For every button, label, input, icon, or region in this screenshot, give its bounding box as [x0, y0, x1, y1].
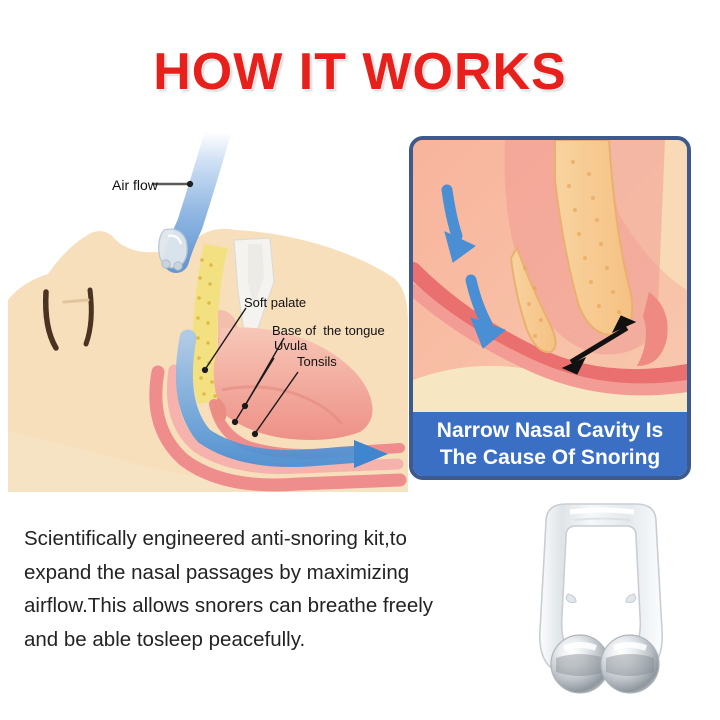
nasal-cavity-cross-section-svg	[413, 140, 687, 416]
clip-right-nub	[626, 594, 636, 603]
inset-caption-box: Narrow Nasal Cavity Is The Cause Of Snor…	[413, 412, 687, 476]
product-photo-nose-clip	[508, 492, 694, 698]
description-line-2: expand the nasal passages by maximizing	[24, 556, 494, 590]
inset-turbinates	[505, 140, 668, 366]
clip-top-highlight	[570, 510, 634, 512]
page-title: HOW IT WORKS	[153, 42, 567, 102]
nose-clip-svg	[508, 492, 694, 698]
magnetic-balls	[551, 635, 659, 693]
title-bar: HOW IT WORKS	[0, 42, 720, 102]
label-air-flow: Air flow	[112, 178, 158, 192]
description-line-1: Scientifically engineered anti-snoring k…	[24, 522, 494, 556]
label-base-of-tongue: Base of the tongue	[272, 324, 385, 337]
description-line-3: airflow.This allows snorers can breathe …	[24, 589, 494, 623]
label-tonsils: Tonsils	[297, 355, 337, 368]
label-soft-palate: Soft palate	[244, 296, 306, 309]
label-uvula: Uvula	[274, 339, 307, 352]
anatomy-illustration: Air flow	[8, 132, 408, 492]
caption-line-2: The Cause Of Snoring	[440, 444, 661, 471]
description-line-4: and be able tosleep peacefully.	[24, 623, 494, 657]
head-cross-section-svg	[8, 132, 408, 492]
nose-clip-on-face	[159, 229, 187, 270]
caption-line-1: Narrow Nasal Cavity Is	[437, 417, 663, 444]
description-block: Scientifically engineered anti-snoring k…	[24, 522, 494, 656]
clip-left-nub	[566, 594, 576, 603]
narrow-nasal-cavity-panel: Narrow Nasal Cavity Is The Cause Of Snor…	[409, 136, 691, 480]
